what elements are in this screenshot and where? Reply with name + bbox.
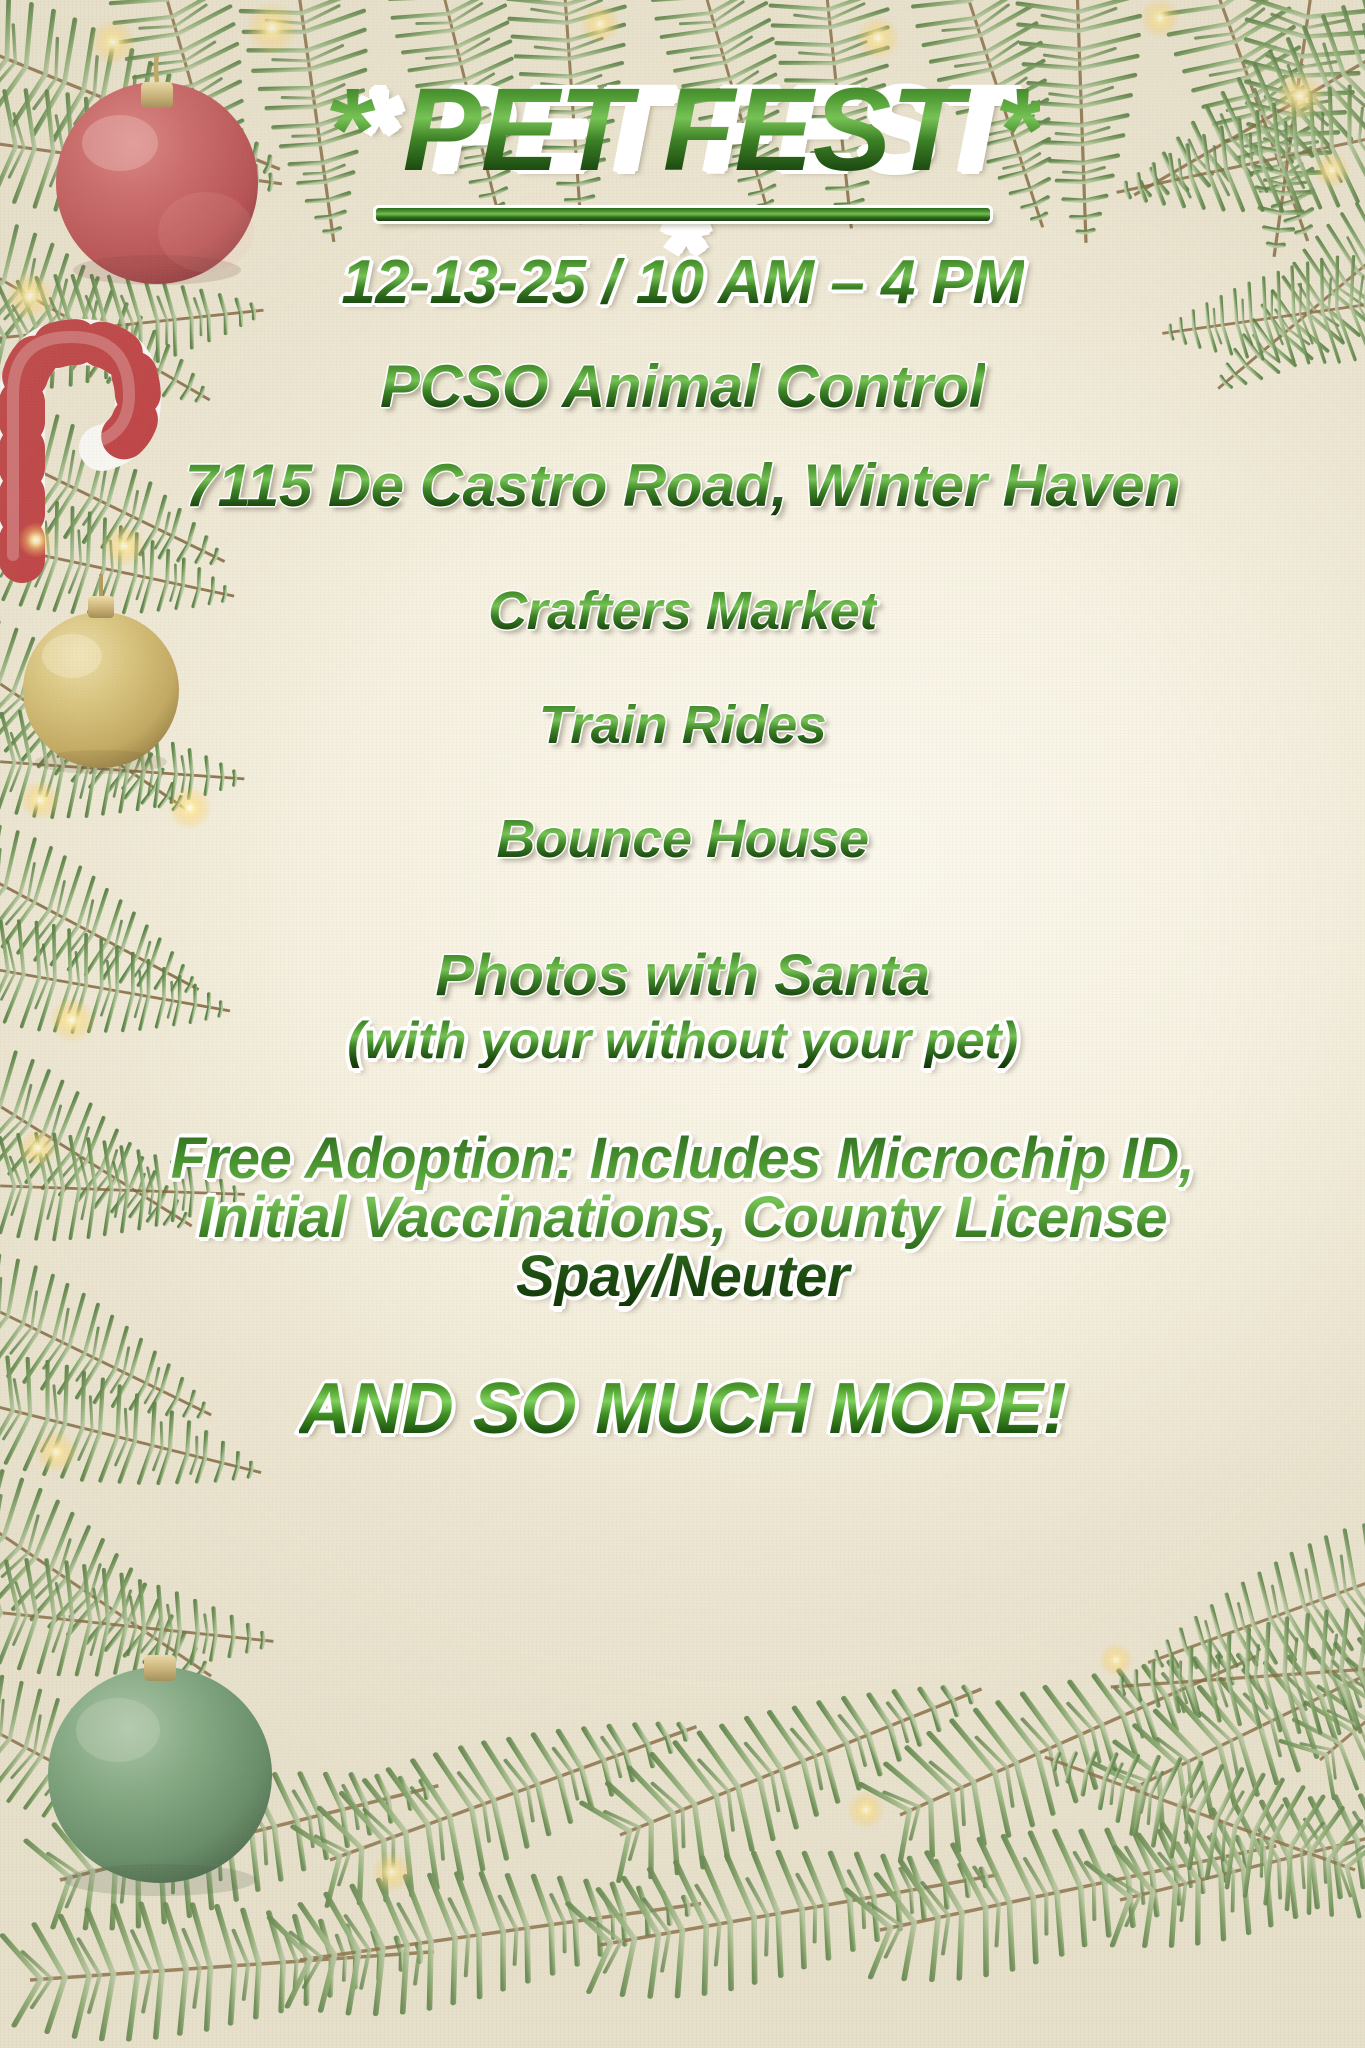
list-item: Bounce House [496,808,868,870]
santa-photos-block: Photos with Santa (with your without you… [347,942,1018,1071]
santa-photos-heading: Photos with Santa [347,942,1018,1009]
activity-list: Crafters Market Train Rides Bounce House [488,580,877,870]
event-address-text: 7115 De Castro Road, Winter Haven [185,455,1181,516]
closing-line: AND SO MUCH MORE! [299,1368,1066,1450]
organization: PCSO Animal Control [380,352,985,421]
title-divider [376,208,990,221]
page-title: * PET FEST * [325,62,1040,198]
santa-photos-note: (with your without your pet) [347,1011,1018,1071]
santa-photos-note-text: (with your without your pet) [347,1015,1018,1068]
title-divider-wrap [0,208,1365,221]
list-item: Crafters Market [488,580,877,642]
poster-content: * PET FEST * 12-13-25 / 10 AM – 4 PM PCS… [0,0,1365,2048]
organization-text: PCSO Animal Control [380,356,985,417]
event-datetime: 12-13-25 / 10 AM – 4 PM [341,247,1023,318]
closing-line-text: AND SO MUCH MORE! [299,1373,1066,1446]
page-title-text: * PET FEST * [325,70,1040,190]
pet-fest-poster: * PET FEST * 12-13-25 / 10 AM – 4 PM PCS… [0,0,1365,2048]
event-address: 7115 De Castro Road, Winter Haven [185,451,1181,520]
activity-label: Crafters Market [488,584,877,639]
event-datetime-text: 12-13-25 / 10 AM – 4 PM [341,251,1023,314]
santa-photos-text: Photos with Santa [435,946,929,1005]
list-item: Train Rides [539,694,827,756]
activity-label: Bounce House [496,812,868,867]
adoption-details-text: Free Adoption: Includes Microchip ID, In… [171,1129,1194,1306]
adoption-details: Free Adoption: Includes Microchip ID, In… [171,1129,1194,1306]
activity-label: Train Rides [539,698,827,753]
